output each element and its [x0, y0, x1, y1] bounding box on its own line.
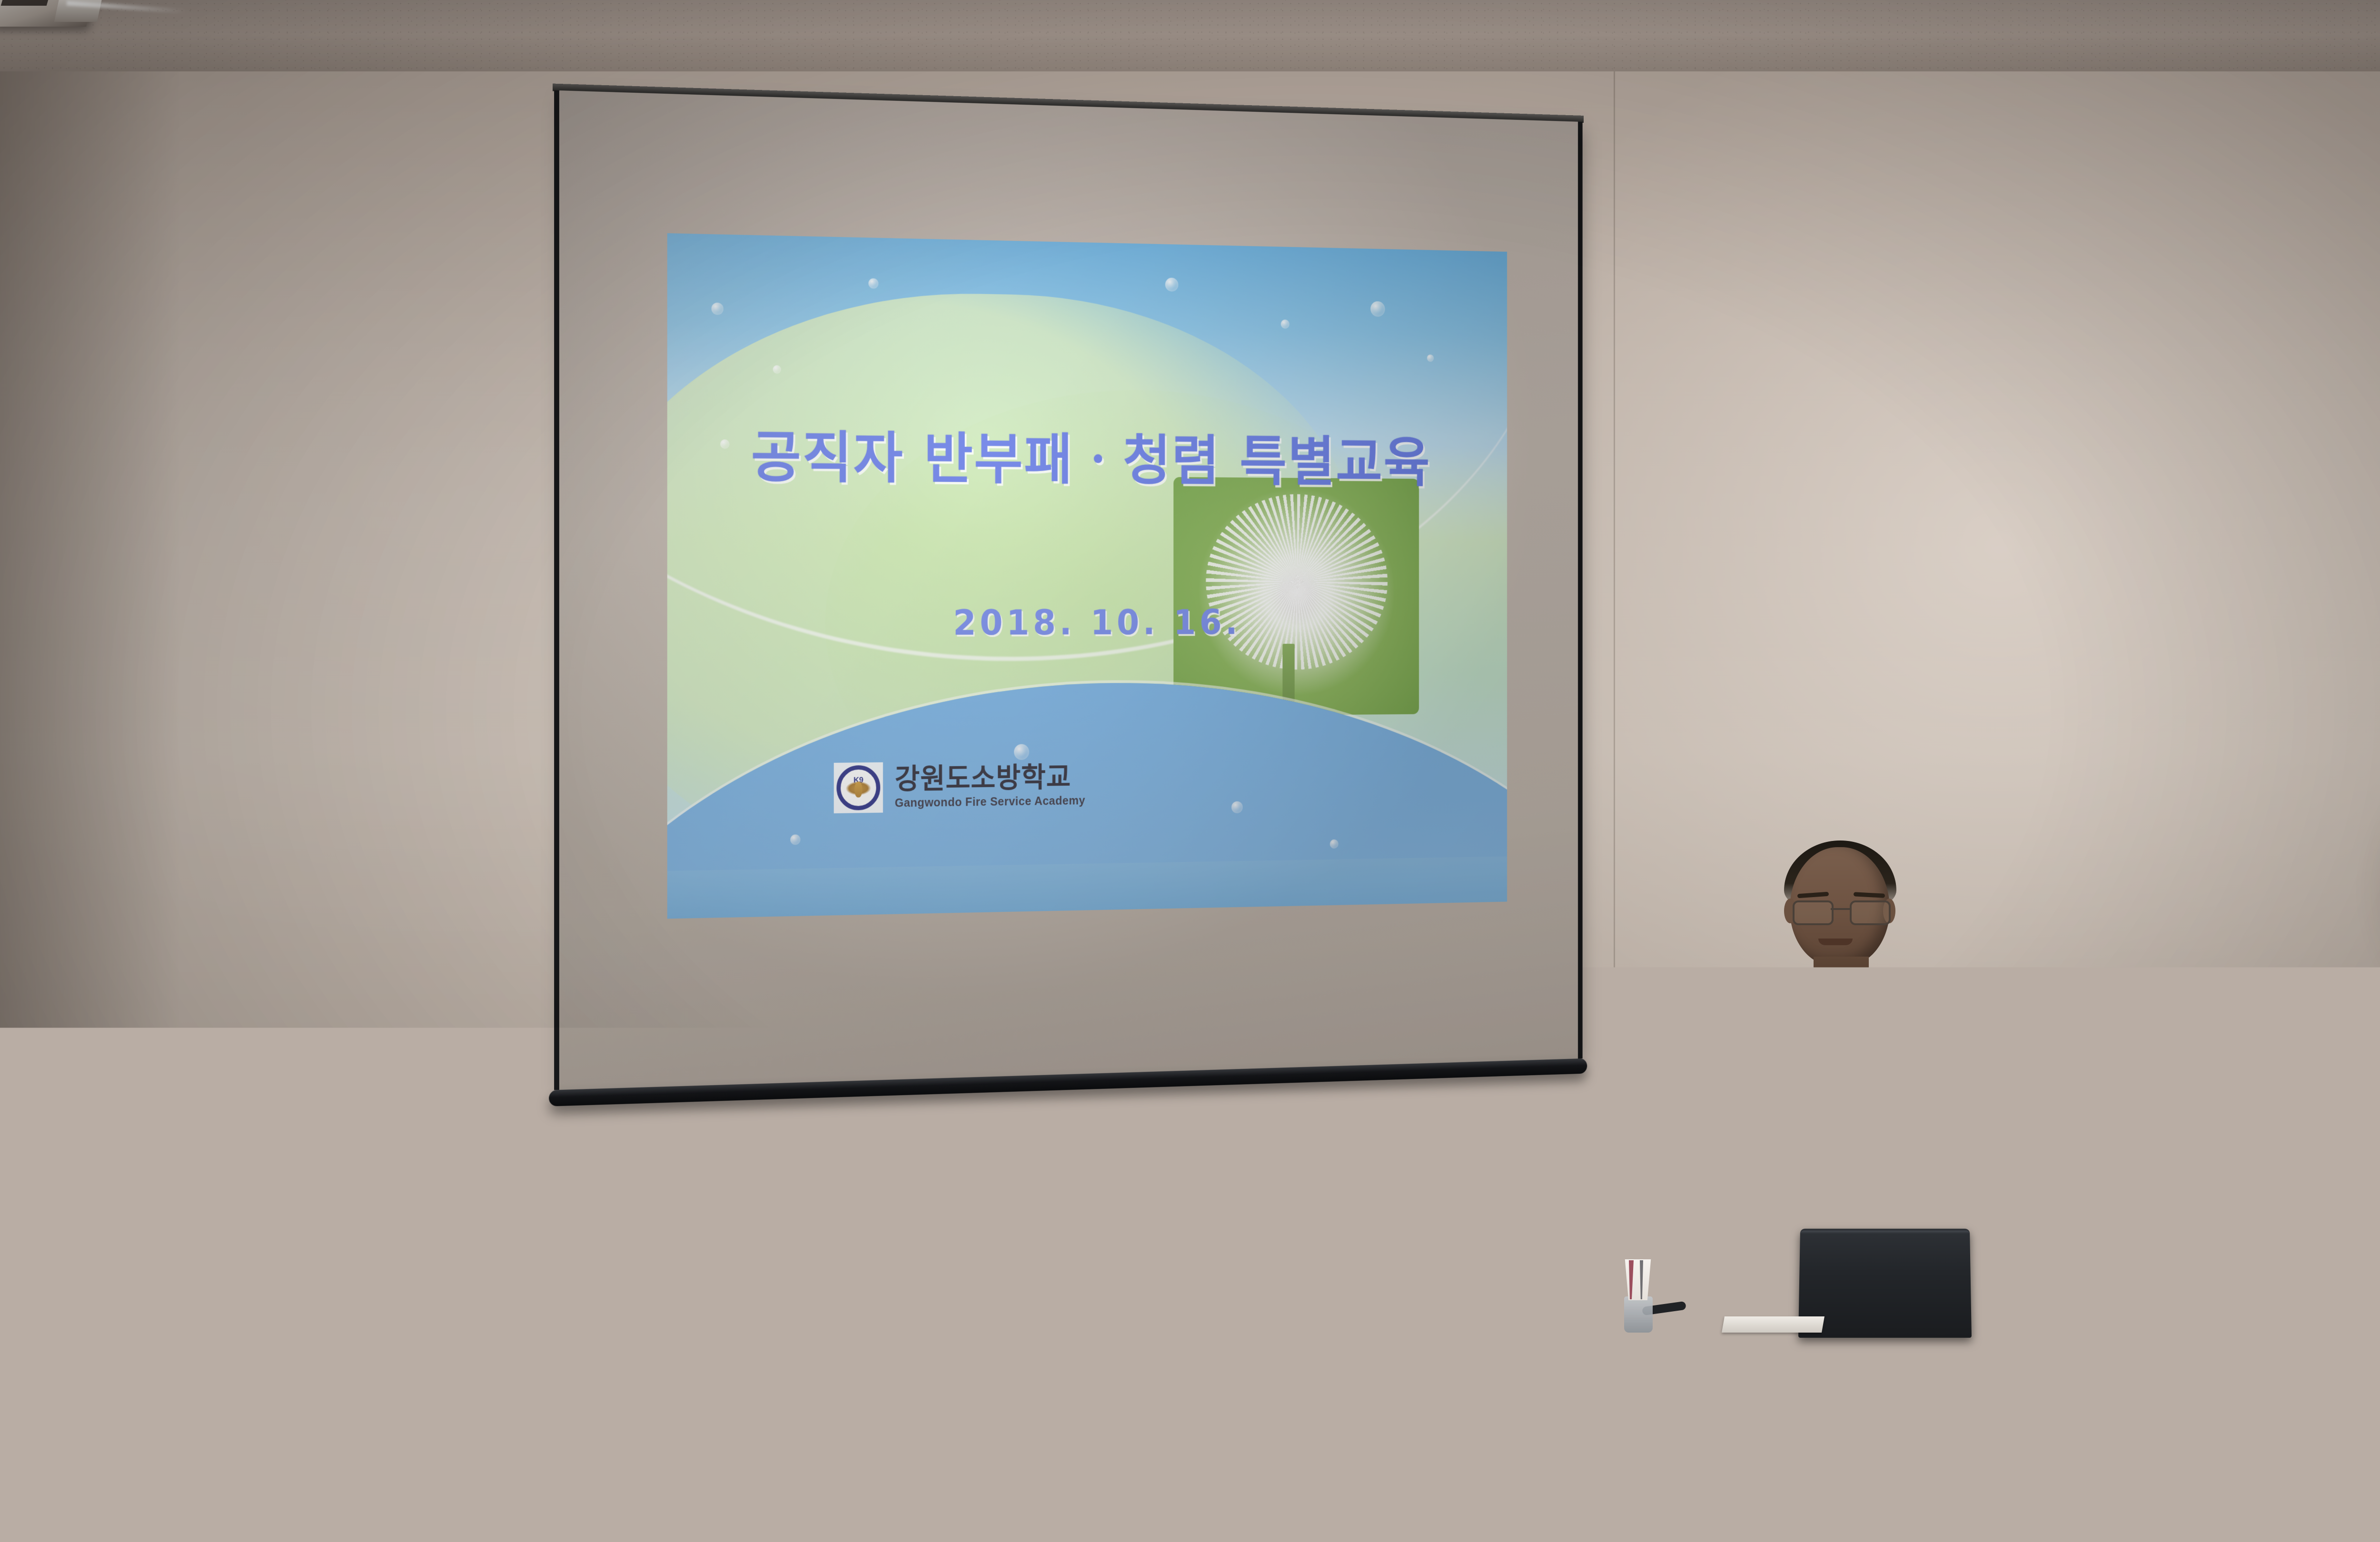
slide-org-kr: 강원도소방학교 [895, 763, 1085, 794]
podium-emblem-inner: K9 GFSA 2010 [1726, 1407, 1787, 1468]
paper-cup[interactable] [1623, 1259, 1653, 1300]
podium-academy-emblem-icon: K9 GFSA 2010 [1718, 1399, 1795, 1475]
bubble-icon [1427, 355, 1434, 362]
projected-slide: 공직자 반부패ㆍ청렴 특별교육 2018. 10. 16. K9 [667, 233, 1507, 919]
podium-emblem-abbrev: GFSA [1735, 1453, 1753, 1461]
bubble-icon [712, 303, 724, 315]
bubble-icon [1165, 277, 1179, 291]
glasses-bridge [1831, 908, 1850, 910]
laptop-lid-edge [1800, 1231, 1970, 1234]
wall-seam [1614, 71, 1615, 1380]
screen-surface: 공직자 반부패ㆍ청렴 특별교육 2018. 10. 16. K9 [559, 90, 1578, 1090]
ceremonial-flag: 강원도 [2351, 676, 2380, 1485]
orange-object-edge [0, 1118, 15, 1242]
floor-light-wood [0, 1375, 1733, 1542]
podium-top-ledge [1618, 1323, 2037, 1346]
slide-footer: K9 강원도소방학교 Gangwondo Fire Service Academ… [834, 760, 1085, 813]
podium-body [1620, 1344, 2030, 1542]
flag-wall-shadow [2361, 742, 2380, 1038]
slide-logo-box: K9 [834, 762, 883, 813]
slide-org-en: Gangwondo Fire Service Academy [895, 795, 1085, 810]
laptop[interactable] [1798, 1229, 1972, 1338]
speaker-mouth [1818, 939, 1853, 945]
bubble-icon [868, 278, 878, 289]
screen-left-edge [554, 90, 559, 1090]
podium-and-speaker: K9 GFSA 2010 [1618, 847, 2094, 1542]
bubble-icon [1281, 319, 1289, 328]
podium-emblem-body [1749, 1426, 1764, 1455]
podium-emblem-year: 2010 [1765, 1453, 1778, 1461]
slide-date: 2018. 10. 16. [667, 603, 1507, 644]
lecture-hall-photo: 공직자 반부패ㆍ청렴 특별교육 2018. 10. 16. K9 [0, 0, 2380, 1542]
lens-right [1850, 900, 1891, 925]
bubble-icon [773, 365, 781, 374]
eyeglasses-icon [1792, 900, 1890, 922]
screen-right-edge [1578, 122, 1583, 1059]
emblem-body [854, 781, 862, 798]
academy-emblem-icon: K9 [836, 765, 880, 810]
wall-left-shadow [0, 71, 181, 1380]
bubble-icon [1370, 301, 1385, 317]
lens-left [1793, 900, 1834, 925]
bubble-icon [1014, 744, 1029, 760]
projection-screen: 공직자 반부패ㆍ청렴 특별교육 2018. 10. 16. K9 [559, 90, 1578, 1090]
slide-title: 공직자 반부패ㆍ청렴 특별교육 [667, 411, 1507, 497]
dandelion-photo [1173, 477, 1419, 716]
slide-org-block: 강원도소방학교 Gangwondo Fire Service Academy [895, 763, 1085, 810]
